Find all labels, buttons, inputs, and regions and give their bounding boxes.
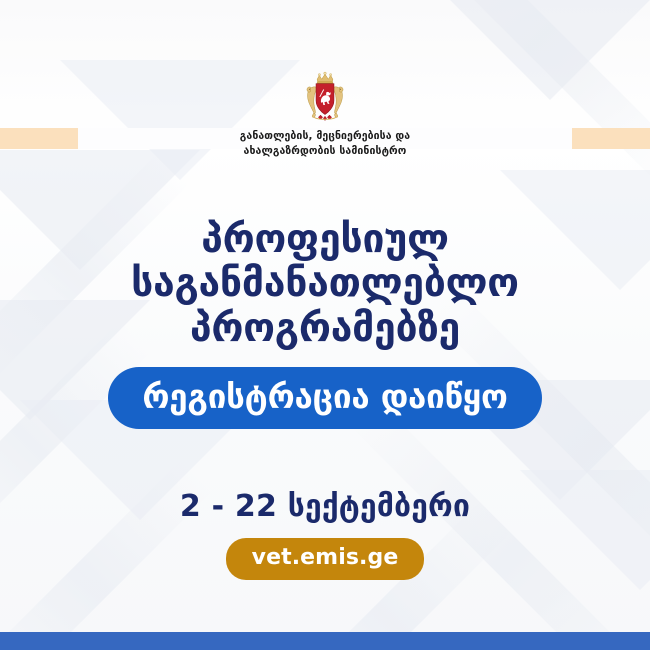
page-title: პროფესიულ საგანმანათლებლო პროგრამებზე (0, 218, 650, 351)
url-badge-container: vet.emis.ge (0, 538, 650, 580)
headline-line-1: პროფესიულ (0, 218, 650, 262)
bottom-accent-bar (0, 632, 650, 650)
header: განათლების, მეცნიერებისა და ახალგაზრდობი… (0, 0, 650, 172)
registration-open-badge[interactable]: რეგისტრაცია დაიწყო (108, 367, 541, 429)
poster-canvas: განათლების, მეცნიერებისა და ახალგაზრდობი… (0, 0, 650, 650)
website-url-badge[interactable]: vet.emis.ge (226, 538, 425, 580)
headline-line-3: პროგრამებზე (0, 307, 650, 351)
cta-pill-container: რეგისტრაცია დაიწყო (0, 367, 650, 429)
georgia-coat-of-arms-icon (297, 68, 353, 124)
headline-line-2: საგანმანათლებლო (0, 262, 650, 306)
registration-dates: 2 - 22 სექტემბერი (0, 492, 650, 522)
ministry-name: განათლების, მეცნიერებისა და ახალგაზრდობი… (240, 129, 410, 159)
